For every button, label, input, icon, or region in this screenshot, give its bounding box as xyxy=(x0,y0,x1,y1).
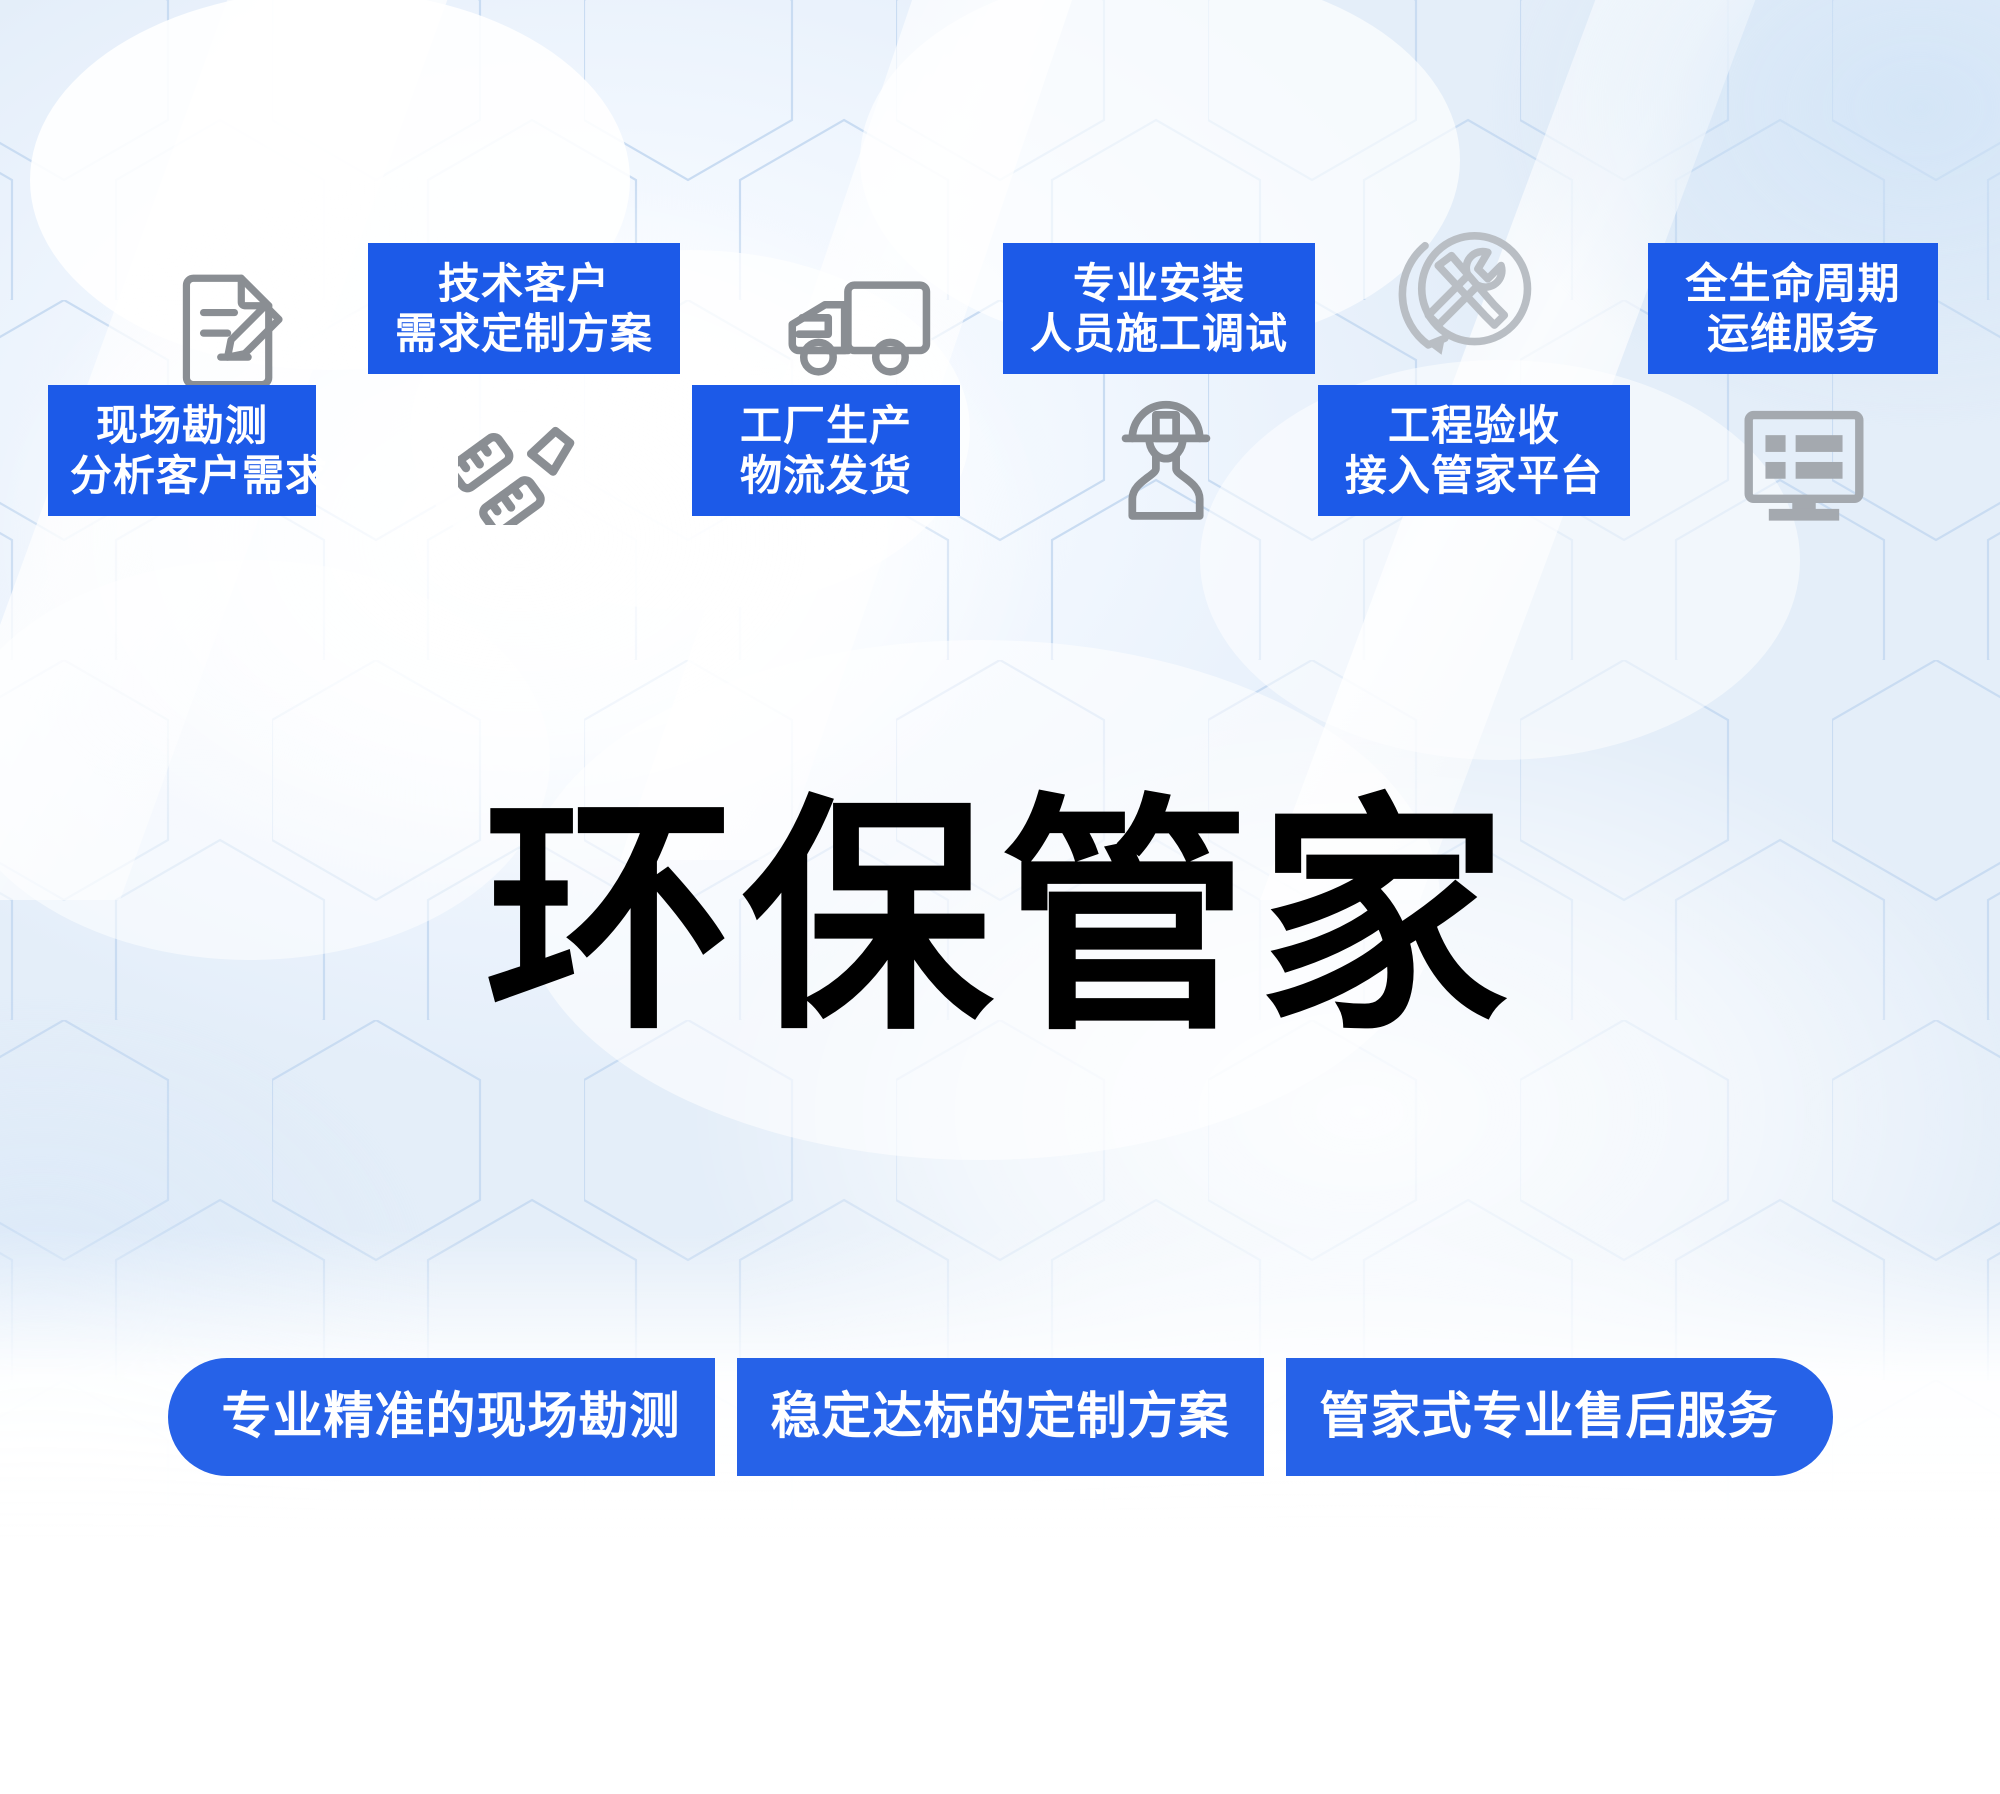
process-flow-strip: 现场勘测 分析客户需求 技术客户 需求定制方案 工厂生产 物流发货 xyxy=(0,0,2000,560)
process-tag-3-line2: 物流发货 xyxy=(714,451,938,501)
feature-pill-1[interactable]: 专业精准的现场勘测 xyxy=(168,1358,715,1476)
process-tag-6: 全生命周期 运维服务 xyxy=(1648,243,1938,374)
process-tag-2-line2: 需求定制方案 xyxy=(390,309,658,359)
delivery-truck-icon xyxy=(785,272,937,380)
process-tag-2-line1: 技术客户 xyxy=(390,259,658,309)
process-tag-1: 现场勘测 分析客户需求 xyxy=(48,385,316,516)
feature-pill-2-label: 稳定达标的定制方案 xyxy=(771,1388,1230,1444)
worker-helmet-icon xyxy=(1112,398,1220,526)
document-edit-icon xyxy=(176,268,286,388)
feature-pill-3-label: 管家式专业售后服务 xyxy=(1320,1388,1779,1444)
feature-pill-1-label: 专业精准的现场勘测 xyxy=(222,1388,681,1444)
page-title-text: 环保管家 xyxy=(484,770,1516,1064)
ruler-pen-icon xyxy=(458,415,588,525)
background-white-fade xyxy=(0,1230,2000,1794)
process-tag-4-line2: 人员施工调试 xyxy=(1025,309,1293,359)
feature-pill-2[interactable]: 稳定达标的定制方案 xyxy=(737,1358,1264,1476)
poster-canvas: 现场勘测 分析客户需求 技术客户 需求定制方案 工厂生产 物流发货 xyxy=(0,0,2000,1794)
process-tag-6-line1: 全生命周期 xyxy=(1670,259,1916,309)
process-tag-3: 工厂生产 物流发货 xyxy=(692,385,960,516)
process-tag-3-line1: 工厂生产 xyxy=(714,401,938,451)
monitor-dashboard-icon xyxy=(1742,408,1866,526)
feature-pill-group: 专业精准的现场勘测 稳定达标的定制方案 管家式专业售后服务 xyxy=(0,1358,2000,1476)
process-tag-6-line2: 运维服务 xyxy=(1670,309,1916,359)
tools-wrench-screwdriver-icon xyxy=(1392,222,1544,362)
page-title: 环保管家 xyxy=(0,792,2000,1042)
process-tag-1-line2: 分析客户需求 xyxy=(70,451,294,501)
process-tag-4: 专业安装 人员施工调试 xyxy=(1003,243,1315,374)
process-tag-1-line1: 现场勘测 xyxy=(70,401,294,451)
process-tag-5: 工程验收 接入管家平台 xyxy=(1318,385,1630,516)
process-tag-4-line1: 专业安装 xyxy=(1025,259,1293,309)
process-tag-2: 技术客户 需求定制方案 xyxy=(368,243,680,374)
process-tag-5-line2: 接入管家平台 xyxy=(1340,451,1608,501)
process-tag-5-line1: 工程验收 xyxy=(1340,401,1608,451)
feature-pill-3[interactable]: 管家式专业售后服务 xyxy=(1286,1358,1833,1476)
